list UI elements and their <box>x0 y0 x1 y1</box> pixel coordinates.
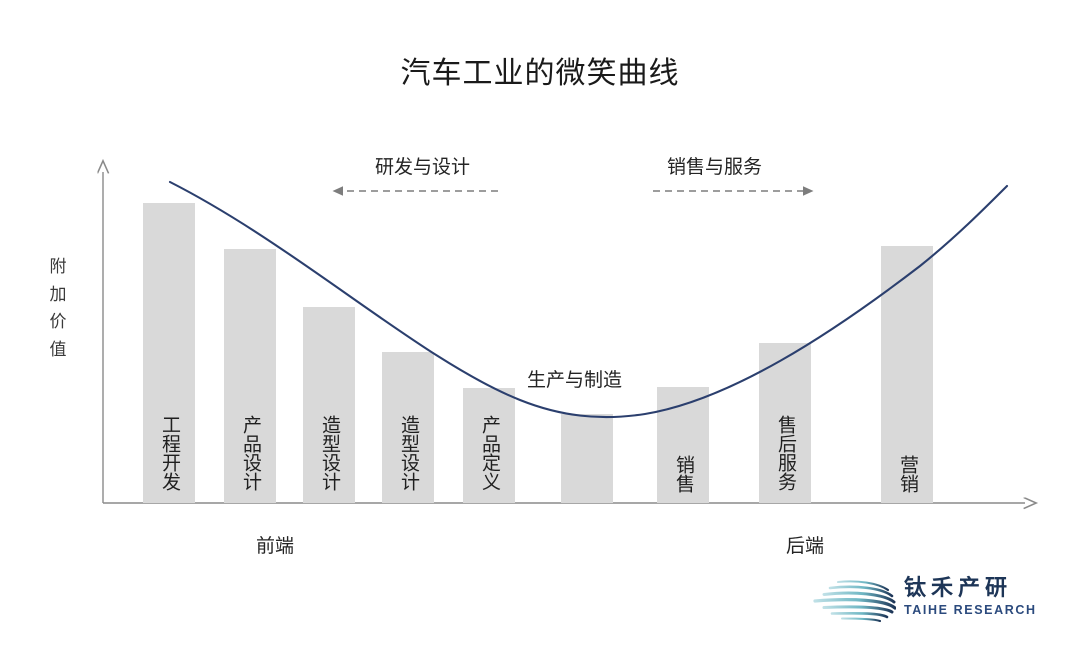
bar <box>561 414 613 503</box>
plot-area <box>0 0 1080 672</box>
wave-lines-icon <box>812 577 896 623</box>
bars-group <box>143 203 933 503</box>
bar-label: 营销 <box>897 455 917 493</box>
logo: 钛禾产研 TAIHE RESEARCH <box>812 575 1032 637</box>
floating-label-manufacturing: 生产与制造 <box>527 365 622 392</box>
bar-label: 产品定义 <box>479 415 499 491</box>
bar-label: 造型设计 <box>398 415 418 491</box>
axis-end-label-front: 前端 <box>256 531 294 558</box>
bar-label: 销售 <box>673 455 693 493</box>
bar-label: 产品设计 <box>240 415 260 491</box>
bar-label: 造型设计 <box>319 415 339 491</box>
logo-name-en: TAIHE RESEARCH <box>904 603 1034 617</box>
smiling-curve-chart: 汽车工业的微笑曲线 附 加 价 值 <box>0 0 1080 672</box>
region-label-right: 销售与服务 <box>667 152 762 179</box>
logo-name-cn: 钛禾产研 <box>904 575 1034 600</box>
region-label-left: 研发与设计 <box>375 152 470 179</box>
bar-label: 售后服务 <box>775 415 795 491</box>
bar-label: 工程开发 <box>159 415 179 491</box>
axis-end-label-back: 后端 <box>786 531 824 558</box>
logo-text: 钛禾产研 TAIHE RESEARCH <box>904 575 1034 617</box>
